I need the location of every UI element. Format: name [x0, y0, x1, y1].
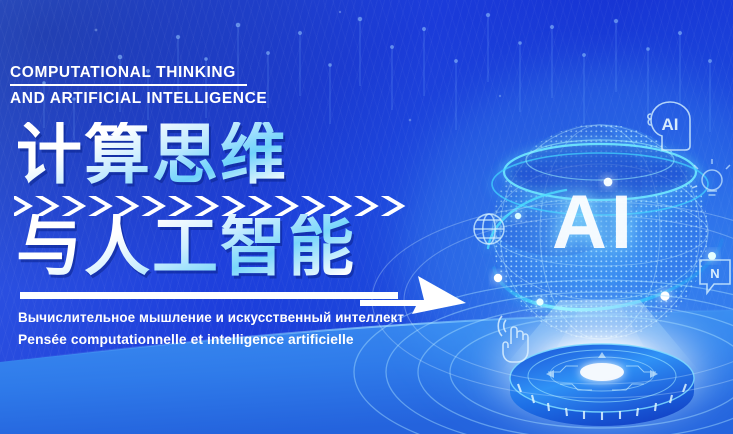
header-line-1: COMPUTATIONAL THINKING: [10, 62, 480, 83]
lightbulb-icon: [692, 159, 730, 195]
head-ai-icon: AI: [648, 102, 690, 150]
subtitle-russian: Вычислительное мышление и искусственный …: [18, 310, 404, 325]
globe-icon: [474, 214, 504, 244]
chevron-icon: [354, 196, 379, 216]
title-text-block: COMPUTATIONAL THINKING AND ARTIFICIAL IN…: [10, 62, 480, 109]
header-line-2: AND ARTIFICIAL INTELLIGENCE: [10, 88, 480, 109]
touch-hand-icon: [498, 316, 528, 362]
speech-bubble-n-icon: N: [700, 260, 730, 293]
title-line-1: 计算思维: [16, 122, 288, 188]
chevron-icon: [381, 196, 406, 216]
speech-bubble-n-label: N: [710, 266, 719, 281]
subtitle-french: Pensée computationnelle et intelligence …: [18, 332, 354, 347]
globe-ai-label: AI: [552, 185, 636, 261]
tech-platform: [510, 344, 694, 426]
header-divider: [10, 84, 247, 86]
white-underline-bar: [20, 292, 398, 299]
title-line-2: 与人工智能: [16, 214, 356, 280]
ai-poster: AI N AI COMPUTATIONAL THINKING AND: [0, 0, 733, 434]
head-ai-icon-label: AI: [662, 115, 679, 134]
